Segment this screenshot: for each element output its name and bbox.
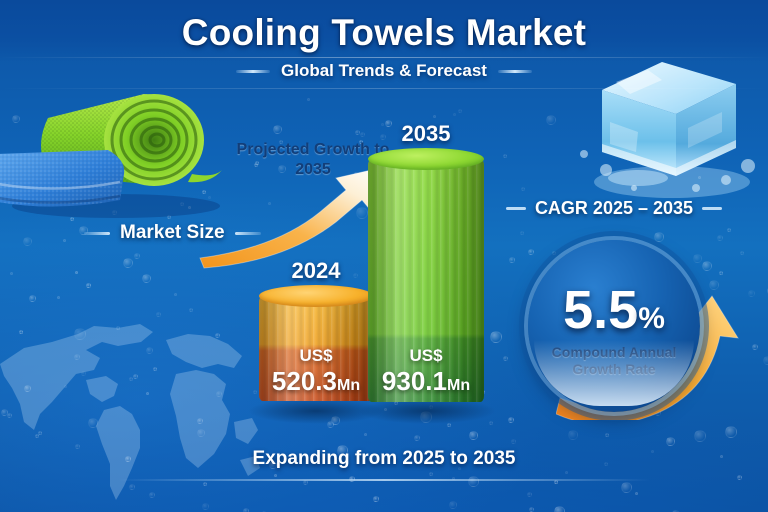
market-size-dash-left	[84, 232, 110, 235]
subtitle-dash-right	[498, 70, 532, 73]
bottom-caption: Expanding from 2025 to 2035	[0, 448, 768, 470]
bar-2035-top-cap	[368, 148, 484, 170]
subtitle-row: Global Trends & Forecast	[0, 61, 768, 81]
page-title: Cooling Towels Market	[0, 12, 768, 54]
cagr-description: Compound Annual Growth Rate	[552, 344, 677, 378]
title-divider	[0, 57, 768, 58]
bar-2035-year: 2035	[364, 121, 488, 147]
market-size-dash-right	[235, 232, 261, 235]
market-size-label: Market Size	[120, 222, 225, 244]
bar-2024-top-cap	[259, 285, 373, 307]
cagr-badge: 5.5% Compound Annual Growth Rate	[528, 240, 700, 412]
cagr-dash-right	[702, 207, 722, 210]
cagr-number: 5.5	[563, 280, 638, 340]
bar-2035-currency: US$	[368, 346, 484, 366]
cagr-description-line1: Compound Annual	[552, 344, 677, 361]
bar-2024-value: US$ 520.3Mn	[259, 346, 373, 397]
bar-2024-amount: 520.3	[272, 366, 337, 396]
cagr-percent-symbol: %	[638, 302, 665, 335]
cagr-dash-left	[506, 207, 526, 210]
market-size-label-row: Market Size	[84, 222, 261, 244]
cooling-towels-illustration	[0, 78, 228, 218]
bar-2035-value: US$ 930.1Mn	[368, 346, 484, 397]
bar-2024-unit: Mn	[337, 377, 360, 394]
bar-2035-amount: 930.1	[382, 366, 447, 396]
bar-2024-currency: US$	[259, 346, 373, 366]
cagr-heading-row: CAGR 2025 – 2035	[500, 198, 728, 219]
bar-2024-year: 2024	[254, 258, 378, 284]
cagr-heading: CAGR 2025 – 2035	[535, 198, 693, 219]
subtitle-dash-left	[236, 70, 270, 73]
page-subtitle: Global Trends & Forecast	[281, 61, 487, 81]
bar-2035-unit: Mn	[447, 377, 470, 394]
cagr-value: 5.5%	[563, 283, 665, 337]
subtitle-divider	[0, 88, 768, 89]
cagr-description-line2: Growth Rate	[552, 361, 677, 378]
bottom-divider	[118, 479, 650, 481]
infographic-canvas: Cooling Towels Market Global Trends & Fo…	[0, 0, 768, 512]
